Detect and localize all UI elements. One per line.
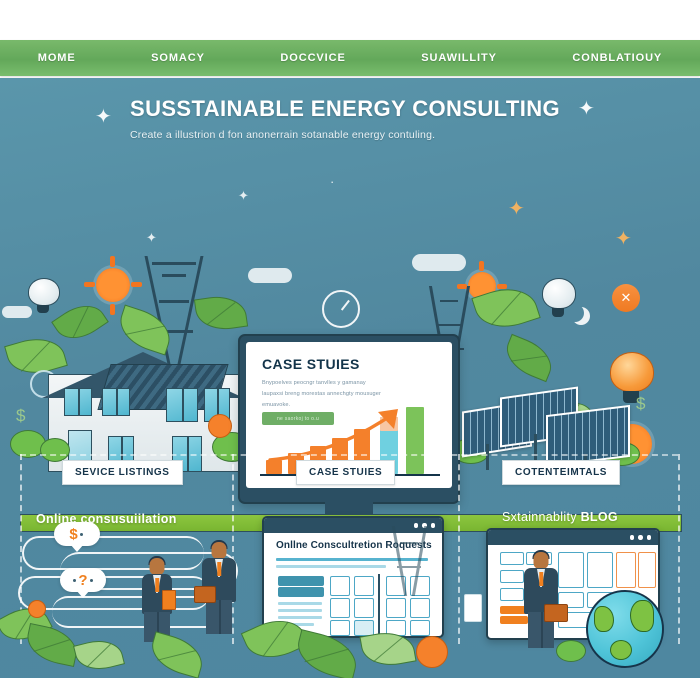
top-navigation-bar: MOME SOMACY DOCCVICE SUAWILLITY CONBLATI… xyxy=(0,40,700,76)
leaf-icon xyxy=(73,635,125,675)
leaf-icon xyxy=(194,293,248,334)
house-window xyxy=(64,388,92,416)
text-rule xyxy=(278,602,322,605)
nav-item-about[interactable]: SOMACY xyxy=(151,52,205,64)
bubble-dot xyxy=(80,533,83,536)
person-head xyxy=(212,542,227,559)
divider-dashed xyxy=(20,454,678,456)
blog-person xyxy=(518,552,564,656)
house-window xyxy=(102,388,130,416)
globe-landmass xyxy=(594,606,614,632)
form-checkbox[interactable] xyxy=(386,598,406,618)
text-rule xyxy=(278,609,322,612)
section-label-testimonials[interactable]: COTENTEIMTALS xyxy=(502,460,620,485)
question-speech-bubble: ? xyxy=(60,568,106,592)
form-checkbox[interactable] xyxy=(410,620,430,636)
page-subtitle: Create a illustrion d fon anonerrain sot… xyxy=(130,129,600,141)
sun-ray xyxy=(84,282,95,287)
illustration-scene: ✕ xyxy=(0,156,700,456)
blog-card[interactable] xyxy=(638,552,656,588)
text-rule xyxy=(276,565,386,568)
house-window xyxy=(166,388,198,422)
section-label-case-studies[interactable]: CASE STUIES xyxy=(296,460,395,485)
list-row xyxy=(278,587,324,597)
screenshot-root: MOME SOMACY DOCCVICE SUAWILLITY CONBLATI… xyxy=(0,0,700,700)
bush-icon xyxy=(40,438,70,462)
text-rule xyxy=(278,616,322,619)
sun-ray xyxy=(110,304,115,315)
form-checkbox[interactable] xyxy=(330,576,350,596)
dollar-icon: $ xyxy=(16,406,25,426)
gauge-icon xyxy=(322,290,360,328)
solar-panel-icon xyxy=(546,405,630,467)
window-dot[interactable] xyxy=(431,523,436,528)
blog-card[interactable] xyxy=(616,552,636,588)
house-illustration xyxy=(48,332,238,472)
sparkle-icon: ✦ xyxy=(578,96,595,121)
bubble-dot xyxy=(73,579,76,582)
sun-ray xyxy=(110,256,115,267)
list-row xyxy=(278,576,324,586)
window-titlebar xyxy=(488,530,658,545)
globe-landmass xyxy=(630,600,654,632)
bush-icon xyxy=(556,640,586,662)
bubble-dot xyxy=(90,579,93,582)
person-head xyxy=(150,558,165,575)
window-dot[interactable] xyxy=(638,535,643,540)
person-tie xyxy=(539,572,543,586)
nav-item-consultation[interactable]: CONBLATIOUY xyxy=(572,52,662,64)
person-head xyxy=(534,552,549,569)
sun-ray xyxy=(131,282,142,287)
sparkle-icon: ✦ xyxy=(95,104,112,129)
screen-title: CASE STUIES xyxy=(262,356,360,372)
folder-icon xyxy=(162,590,176,610)
lightbulb-icon xyxy=(28,278,58,312)
dollar-icon: $ xyxy=(69,526,77,543)
sun-ray xyxy=(479,261,484,271)
power-pylon-icon xyxy=(394,526,424,596)
decor-box xyxy=(464,594,482,622)
sun-icon xyxy=(96,268,130,302)
section-label-row: SEVICE LISTINGS CASE STUIES COTENTEIMTAL… xyxy=(0,460,700,490)
section-label-service-listings[interactable]: SEVICE LISTINGS xyxy=(62,460,183,485)
question-icon: ? xyxy=(78,572,87,589)
moon-icon xyxy=(566,304,584,322)
flower-icon xyxy=(28,600,46,618)
dollar-icon: $ xyxy=(636,394,645,414)
column-separator xyxy=(378,574,380,636)
person-tie xyxy=(155,578,159,592)
cloud-icon xyxy=(412,254,466,271)
blog-heading-light: Sxtainnablity xyxy=(502,510,577,524)
globe-landmass xyxy=(610,640,632,660)
blog-heading-bold: BLOG xyxy=(581,510,618,524)
online-consultation-heading: Online consusuiilation xyxy=(36,512,177,526)
sustainability-blog-heading: Sxtainnablity BLOG xyxy=(502,510,618,524)
nav-item-home[interactable]: MOME xyxy=(38,52,76,64)
form-checkbox[interactable] xyxy=(354,576,374,596)
cloud-icon xyxy=(248,268,292,283)
leaf-icon xyxy=(500,334,558,382)
nav-item-sustainability[interactable]: SUAWILLITY xyxy=(421,52,497,64)
briefcase-icon xyxy=(544,604,568,622)
hero-title-block: SUSSTAINABLE ENERGY CONSULTING Create a … xyxy=(130,96,600,141)
flower-icon xyxy=(416,636,448,668)
consultant-person xyxy=(196,542,242,646)
blog-card[interactable] xyxy=(587,552,613,588)
sparkle-badge-icon: ✕ xyxy=(612,284,640,312)
form-checkbox[interactable] xyxy=(330,620,350,636)
bottom-sections: Online consusuiilation $ ? xyxy=(0,490,700,678)
cloud-icon xyxy=(2,306,32,318)
flower-icon xyxy=(208,414,232,438)
form-checkbox[interactable] xyxy=(330,598,350,618)
person-legs xyxy=(206,600,232,634)
window-dot[interactable] xyxy=(647,535,652,540)
form-checkbox[interactable] xyxy=(354,598,374,618)
lightbulb-icon xyxy=(610,352,652,402)
form-checkbox[interactable] xyxy=(410,598,430,618)
globe-icon xyxy=(586,590,664,668)
nav-item-services[interactable]: DOCCVICE xyxy=(280,52,345,64)
page-title: SUSSTAINABLE ENERGY CONSULTING xyxy=(130,96,600,122)
money-speech-bubble: $ xyxy=(54,522,100,546)
hero-canvas: SUSSTAINABLE ENERGY CONSULTING Create a … xyxy=(0,78,700,678)
person-tie xyxy=(217,562,221,576)
briefcase-icon xyxy=(194,586,216,603)
window-dot[interactable] xyxy=(630,535,635,540)
